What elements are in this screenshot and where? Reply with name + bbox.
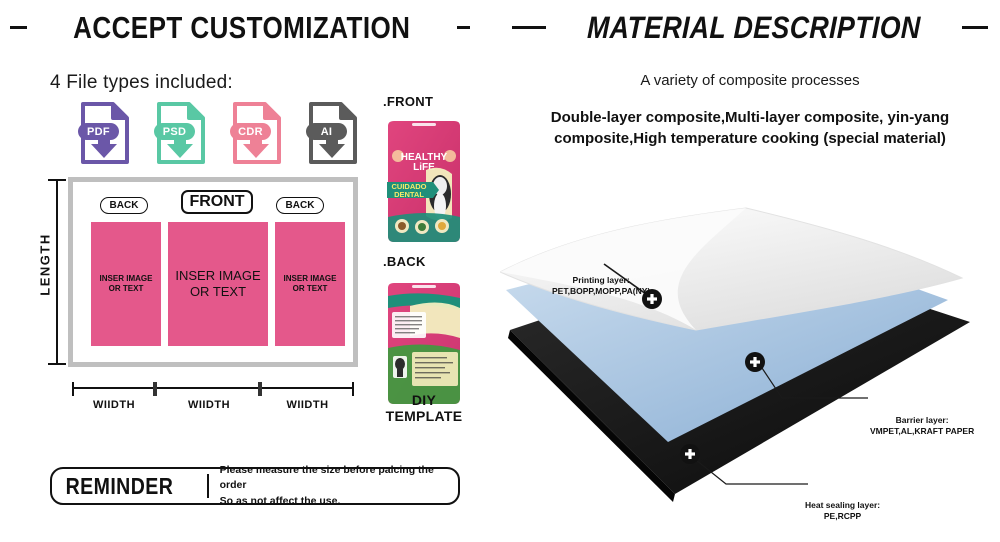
panel-label-back-right: BACK xyxy=(276,197,324,214)
back-left-artwork-area[interactable]: INSER IMAGE OR TEXT xyxy=(91,222,161,346)
placeholder-line-1: INSER IMAGE xyxy=(100,274,153,284)
barrier-layer-title: Barrier layer: xyxy=(870,415,974,426)
printing-layer-title: Printing layer: xyxy=(552,275,650,286)
heat-sealing-layer-label: Heat sealing layer: PE,RCPP xyxy=(805,500,880,522)
composite-processes-description: Double-layer composite,Multi-layer compo… xyxy=(540,107,960,149)
printing-layer-label: Printing layer: PET,BOPP,MOPP,PA(NY) xyxy=(552,275,650,297)
front-artwork-area[interactable]: INSER IMAGE OR TEXT xyxy=(168,222,268,346)
barrier-layer-materials: VMPET,AL,KRAFT PAPER xyxy=(870,426,974,437)
placeholder-line-1: INSER IMAGE xyxy=(175,268,260,284)
width-cap-left xyxy=(72,382,74,396)
width-cap-right xyxy=(352,382,354,396)
reminder-message-line-1: Please measure the size before palcing t… xyxy=(220,464,434,491)
length-dimension: LENGTH xyxy=(34,177,64,367)
material-description-panel: A variety of composite processes Double-… xyxy=(500,52,1000,542)
reminder-box: REMINDER Please measure the size before … xyxy=(50,467,460,505)
layers-illustration xyxy=(500,202,1000,542)
width-line xyxy=(72,387,354,389)
ai-badge-label: AI xyxy=(306,123,347,140)
reminder-divider xyxy=(207,474,209,498)
reminder-title: REMINDER xyxy=(52,473,183,500)
diy-template-frame: BACK FRONT BACK INSER IMAGE OR TEXT INSE… xyxy=(68,177,358,367)
pouch-front-illustration: HEALTHY LiFE CUIDADO DENTAL xyxy=(382,112,466,247)
psd-file-icon[interactable]: PSD xyxy=(151,100,211,166)
reminder-message-line-2: So as not affect the use. xyxy=(220,495,341,507)
header-right-title: MATERIAL DESCRIPTION xyxy=(587,12,921,43)
width-dimension: WIIDTH WIIDTH WIIDTH xyxy=(68,382,358,420)
diy-template-caption: DIY TEMPLATE xyxy=(373,392,475,424)
material-layers-diagram: Printing layer: PET,BOPP,MOPP,PA(NY) Bar… xyxy=(500,202,1000,542)
infographic-page: ACCEPT CUSTOMIZATION MATERIAL DESCRIPTIO… xyxy=(0,0,1000,542)
cdr-file-icon[interactable]: CDR xyxy=(227,100,287,166)
header-rule-left xyxy=(10,26,27,29)
layer-marker-barrier xyxy=(745,352,765,372)
diy-caption-line-2: TEMPLATE xyxy=(373,408,475,424)
svg-text:DENTAL: DENTAL xyxy=(394,190,424,199)
header-accept-customization: ACCEPT CUSTOMIZATION xyxy=(10,6,470,48)
diy-caption-line-1: DIY xyxy=(373,392,475,408)
placeholder-line-1: INSER IMAGE xyxy=(284,274,337,284)
header-rule-right xyxy=(457,26,470,29)
filetypes-title: 4 File types included: xyxy=(50,72,233,94)
placeholder-line-2: OR TEXT xyxy=(190,284,246,300)
pouch-back-image xyxy=(382,274,466,409)
length-label: LENGTH xyxy=(38,210,53,320)
panel-label-front: FRONT xyxy=(181,190,253,214)
header-rule-left xyxy=(512,26,546,29)
pdf-badge-label: PDF xyxy=(78,123,119,140)
cdr-badge-label: CDR xyxy=(230,123,271,140)
accept-customization-panel: 4 File types included: PDF PSD xyxy=(0,52,500,542)
width-label-1: WIIDTH xyxy=(72,399,156,411)
header-rule-right xyxy=(962,26,988,29)
pdf-file-icon[interactable]: PDF xyxy=(75,100,135,166)
pouch-front-image: HEALTHY LiFE CUIDADO DENTAL xyxy=(382,112,466,247)
width-tick-1 xyxy=(153,382,157,396)
panel-label-back-left: BACK xyxy=(100,197,148,214)
pouch-back-label: .BACK xyxy=(383,254,426,269)
width-tick-2 xyxy=(258,382,262,396)
heat-sealing-layer-title: Heat sealing layer: xyxy=(805,500,880,511)
layer-marker-heat xyxy=(680,444,700,464)
width-label-3: WIIDTH xyxy=(261,399,354,411)
printing-layer-materials: PET,BOPP,MOPP,PA(NY) xyxy=(552,286,650,297)
pouch-back-illustration xyxy=(382,274,466,409)
composite-processes-subtitle: A variety of composite processes xyxy=(500,72,1000,89)
heat-sealing-layer-materials: PE,RCPP xyxy=(805,511,880,522)
filetype-icon-row: PDF PSD CDR xyxy=(75,100,363,166)
back-right-artwork-area[interactable]: INSER IMAGE OR TEXT xyxy=(275,222,345,346)
header-left-title: ACCEPT CUSTOMIZATION xyxy=(73,12,410,43)
width-label-2: WIIDTH xyxy=(157,399,261,411)
header-material-description: MATERIAL DESCRIPTION xyxy=(510,6,990,48)
ai-file-icon[interactable]: AI xyxy=(303,100,363,166)
placeholder-line-2: OR TEXT xyxy=(109,284,144,294)
reminder-message: Please measure the size before palcing t… xyxy=(220,463,458,509)
length-cap-bottom xyxy=(48,363,66,365)
pouch-front-label: .FRONT xyxy=(383,94,433,109)
psd-badge-label: PSD xyxy=(154,123,195,140)
length-line xyxy=(56,180,58,364)
barrier-layer-label: Barrier layer: VMPET,AL,KRAFT PAPER xyxy=(870,415,974,437)
placeholder-line-2: OR TEXT xyxy=(293,284,328,294)
